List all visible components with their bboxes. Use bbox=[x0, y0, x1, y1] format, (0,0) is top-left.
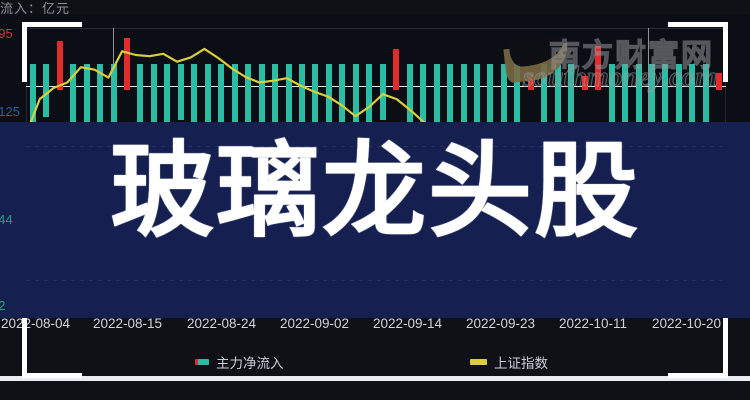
x-axis-label: 2022-08-04 bbox=[1, 316, 70, 331]
y-axis-label: 62 bbox=[0, 298, 5, 313]
page-title: 玻璃龙头股 bbox=[0, 131, 750, 251]
x-axis-label: 2022-10-20 bbox=[652, 316, 721, 331]
y-axis-label: 395 bbox=[0, 26, 13, 41]
chart-legend: 主力净流入上证指数 bbox=[0, 352, 750, 376]
legend-bars-icon bbox=[195, 359, 209, 365]
legend-item[interactable]: 上证指数 bbox=[470, 352, 548, 372]
legend-item[interactable]: 主力净流入 bbox=[195, 352, 284, 372]
legend-label: 主力净流入 bbox=[216, 352, 284, 372]
band-gridline-2 bbox=[26, 280, 726, 281]
y-axis-label: 3125 bbox=[0, 104, 20, 119]
x-axis-label: 2022-09-02 bbox=[280, 316, 349, 331]
legend-line-icon bbox=[470, 359, 487, 365]
y-axis-label: 644 bbox=[0, 212, 13, 227]
x-axis-labels: 2022-08-042022-08-152022-08-242022-09-02… bbox=[0, 316, 750, 342]
x-axis-label: 2022-08-15 bbox=[93, 316, 162, 331]
legend-label: 上证指数 bbox=[494, 352, 548, 372]
bottom-filler bbox=[0, 381, 750, 400]
x-axis-label: 2022-08-24 bbox=[187, 316, 256, 331]
screenshot-root: 流入：亿元 南方财富网 southmoney.com 玻璃龙头股 3950312… bbox=[0, 0, 750, 400]
x-axis-label: 2022-10-11 bbox=[559, 316, 627, 331]
x-axis-label: 2022-09-14 bbox=[373, 316, 442, 331]
x-axis-label: 2022-09-23 bbox=[466, 316, 535, 331]
